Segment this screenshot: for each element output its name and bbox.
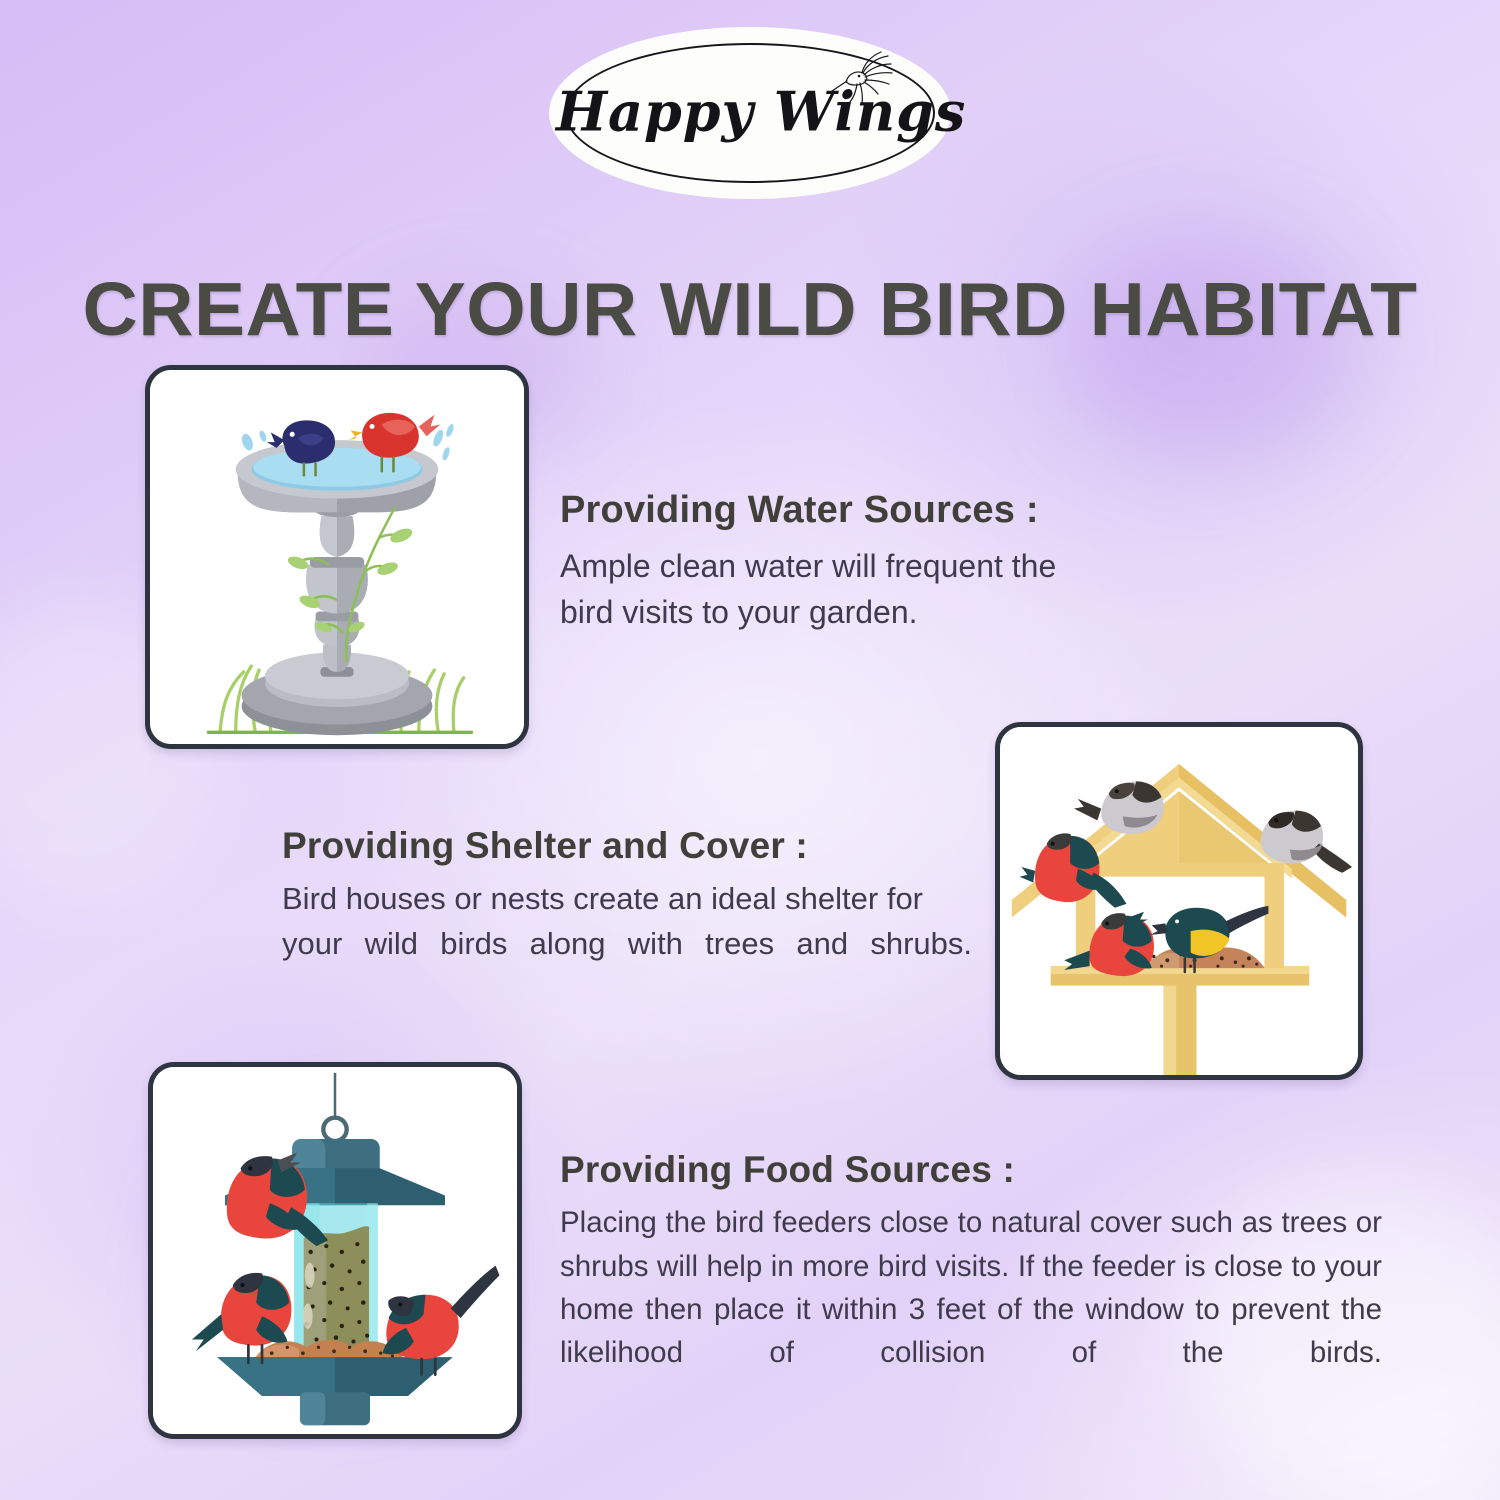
illustration-card-shelter <box>995 722 1363 1080</box>
feeder-base-seed <box>254 1340 404 1359</box>
section-shelter-text: Providing Shelter and Cover : Bird house… <box>282 826 972 966</box>
feeder-seed-column <box>303 1226 369 1347</box>
illustration-card-water <box>145 365 529 749</box>
section-body-water: Ample clean water will frequent the bird… <box>560 544 1060 635</box>
section-body-shelter-line2: your wild birds along with trees and shr… <box>282 922 972 967</box>
illustration-card-food <box>148 1062 522 1439</box>
section-heading-food: Providing Food Sources : <box>560 1150 1382 1189</box>
page-title: CREATE YOUR WILD BIRD HABITAT <box>0 272 1500 347</box>
hanging-tube-feeder-illustration <box>153 1067 517 1434</box>
section-heading-shelter: Providing Shelter and Cover : <box>282 826 972 865</box>
section-body-food: Placing the bird feeders close to natura… <box>560 1201 1382 1374</box>
section-body-shelter-line1: Bird houses or nests create an ideal she… <box>282 881 923 916</box>
section-heading-water: Providing Water Sources : <box>560 490 1060 530</box>
section-water-text: Providing Water Sources : Ample clean wa… <box>560 490 1060 635</box>
feeder-post <box>1163 982 1196 1075</box>
infographic-page: Happy Wings CREATE YOUR WILD BIRD HABITA… <box>0 0 1500 1500</box>
bird-house-feeder-illustration <box>1000 727 1358 1075</box>
section-food-text: Providing Food Sources : Placing the bir… <box>560 1150 1382 1375</box>
logo-wordmark: Happy Wings <box>556 80 944 144</box>
section-body-shelter: Bird houses or nests create an ideal she… <box>282 877 972 966</box>
bird-bath-illustration <box>150 370 524 744</box>
feeder-tray <box>1051 966 1310 985</box>
brand-logo: Happy Wings <box>556 34 944 192</box>
house-right-upright <box>1265 863 1284 968</box>
